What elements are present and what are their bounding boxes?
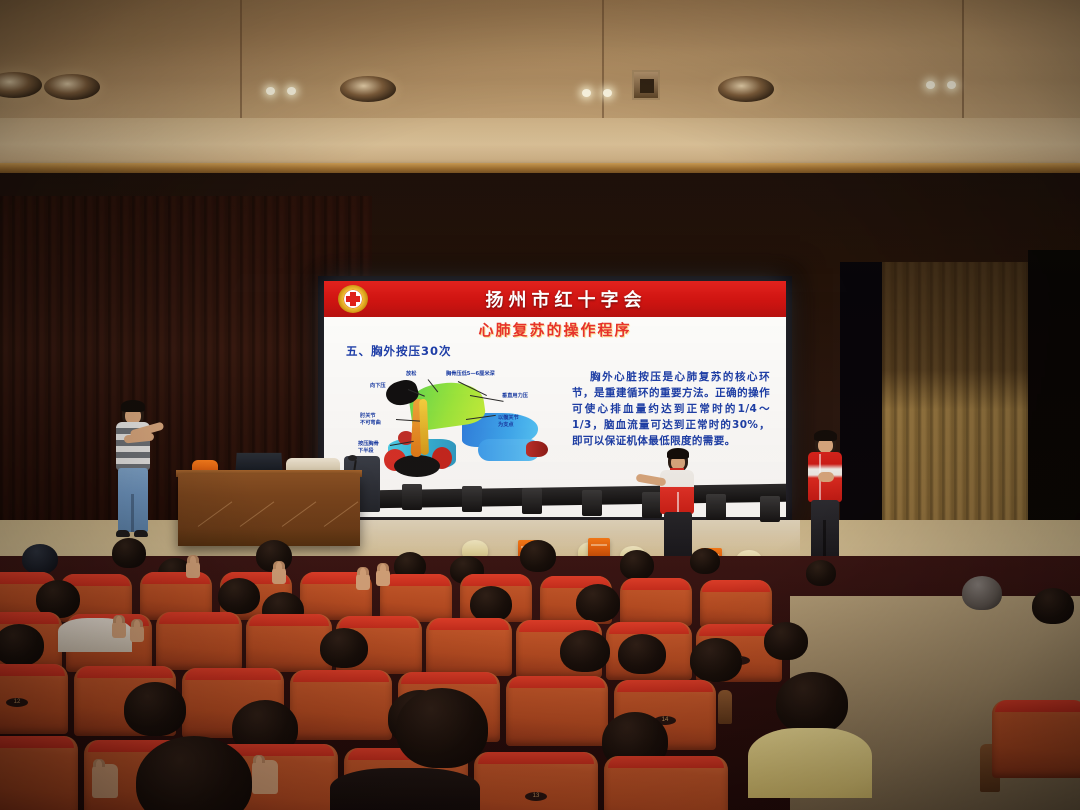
audience-head bbox=[22, 544, 58, 574]
raised-hand bbox=[252, 760, 278, 794]
seat[interactable] bbox=[290, 670, 392, 740]
ceiling-band bbox=[0, 52, 1080, 120]
ceiling-seam bbox=[240, 0, 242, 120]
stage-monitor bbox=[706, 494, 726, 520]
downlight-icon bbox=[340, 76, 396, 102]
seat[interactable] bbox=[0, 736, 78, 810]
presenter bbox=[98, 392, 168, 542]
stage-monitor bbox=[402, 484, 422, 510]
presenter-hair bbox=[121, 400, 145, 412]
seat[interactable]: 13 bbox=[474, 752, 598, 810]
projection-screen: 扬州市红十字会 心肺复苏的操作程序 五、胸外按压30次 向下压 bbox=[324, 281, 786, 517]
diagram-label: 放松 bbox=[406, 371, 416, 378]
ceiling bbox=[0, 0, 1080, 120]
presenter-shoe bbox=[116, 530, 130, 537]
slide-subtitle: 心肺复苏的操作程序 bbox=[324, 319, 786, 340]
audience-head-foreground bbox=[396, 688, 488, 768]
diagram-label: 胸骨压低5—6厘米深 bbox=[446, 371, 495, 378]
audience-head bbox=[470, 586, 512, 622]
stage-monitor bbox=[760, 496, 780, 522]
audience-head bbox=[1032, 588, 1074, 624]
seat[interactable] bbox=[246, 614, 332, 672]
podium-trim bbox=[198, 501, 233, 526]
red-cross-emblem bbox=[338, 285, 368, 313]
raised-hand bbox=[130, 624, 144, 642]
stage-monitor bbox=[582, 490, 602, 516]
volunteer-b-hands bbox=[818, 472, 834, 482]
audience-head bbox=[560, 630, 610, 672]
audience-head bbox=[806, 560, 836, 586]
raised-hand bbox=[112, 620, 126, 638]
audience-shoulders bbox=[330, 768, 480, 810]
seat[interactable] bbox=[992, 700, 1080, 778]
audience-head bbox=[776, 672, 848, 734]
audience-head bbox=[124, 682, 186, 736]
cpr-diagram: 向下压 放松 胸骨压低5—6厘米深 垂直用力压 肘关节 不可弯曲 以髋关节 为支… bbox=[358, 369, 554, 495]
audience-head bbox=[320, 628, 368, 668]
volunteer-a-hair bbox=[667, 448, 689, 459]
raised-hand bbox=[272, 566, 286, 584]
podium-trim bbox=[240, 501, 275, 526]
seat[interactable] bbox=[426, 618, 512, 676]
audience-head bbox=[618, 634, 666, 674]
stage-wing-right bbox=[1028, 250, 1080, 550]
ceiling-seam bbox=[962, 0, 964, 120]
seat[interactable] bbox=[620, 578, 692, 626]
volunteer-a-vest bbox=[660, 470, 694, 514]
seat[interactable] bbox=[380, 574, 452, 622]
seat[interactable]: 12 bbox=[0, 664, 68, 734]
seat-number-plaque: 13 bbox=[525, 792, 547, 801]
slide-banner-title: 扬州市红十字会 bbox=[368, 286, 786, 312]
podium-trim bbox=[282, 501, 317, 526]
slide-section-heading: 五、胸外按压30次 bbox=[346, 343, 452, 359]
diagram-label: 垂直用力压 bbox=[502, 393, 528, 400]
audience-head bbox=[520, 540, 556, 572]
ceiling-seam bbox=[602, 0, 604, 120]
downlight-icon bbox=[718, 76, 774, 102]
raised-hand bbox=[356, 572, 370, 590]
led-spotlight-pair-icon bbox=[582, 88, 612, 97]
stage-monitor bbox=[462, 486, 482, 512]
audience-head bbox=[690, 548, 720, 574]
ceiling-vent-icon bbox=[632, 70, 660, 100]
cross-icon bbox=[346, 296, 360, 302]
seat-number-plaque: 12 bbox=[6, 698, 28, 707]
slide-body-text: 胸外心脏按压是心肺复苏的核心环节，是重建循环的重要方法。正确的操作可使心排血量约… bbox=[572, 369, 770, 449]
microphone-icon bbox=[348, 455, 357, 461]
seat[interactable] bbox=[506, 676, 608, 746]
audience-head bbox=[0, 624, 44, 666]
seat-armrest bbox=[718, 690, 732, 724]
audience-head bbox=[962, 576, 1002, 610]
presenter-jeans bbox=[118, 468, 148, 532]
diagram-label: 向下压 bbox=[370, 383, 386, 390]
auditorium-scene: 扬州市红十字会 心肺复苏的操作程序 五、胸外按压30次 向下压 bbox=[0, 0, 1080, 810]
audience-head bbox=[218, 578, 260, 614]
raised-hand bbox=[186, 560, 200, 578]
diagram-label: 按压胸骨 下半段 bbox=[358, 441, 379, 455]
audience-head bbox=[620, 550, 654, 580]
led-spotlight-pair-icon bbox=[266, 86, 296, 95]
raised-hand bbox=[92, 764, 118, 798]
audience-head bbox=[576, 584, 620, 622]
volunteer-b-hair bbox=[814, 430, 837, 441]
seat[interactable] bbox=[156, 612, 242, 670]
led-spotlight-pair-icon bbox=[926, 80, 956, 89]
audience-shoulders bbox=[748, 728, 872, 798]
diagram-label: 以髋关节 为支点 bbox=[498, 415, 519, 429]
cpr-victim-head bbox=[394, 455, 440, 477]
rescuer-shoe bbox=[526, 441, 548, 457]
podium-trim bbox=[324, 501, 359, 526]
raised-hand bbox=[376, 568, 390, 586]
curtain-right bbox=[882, 262, 1032, 546]
stage-monitor bbox=[522, 488, 542, 514]
podium bbox=[178, 474, 360, 546]
upper-wall bbox=[0, 118, 1080, 166]
presenter-shoe bbox=[134, 530, 148, 537]
seat[interactable] bbox=[700, 580, 772, 628]
audience-head bbox=[690, 638, 742, 682]
equipment-case bbox=[588, 538, 610, 558]
seat[interactable] bbox=[604, 756, 728, 810]
audience-head bbox=[112, 538, 146, 568]
diagram-label: 肘关节 不可弯曲 bbox=[360, 413, 381, 427]
downlight-icon bbox=[44, 74, 100, 100]
slide-banner: 扬州市红十字会 bbox=[324, 281, 786, 317]
audience-head bbox=[764, 622, 808, 660]
